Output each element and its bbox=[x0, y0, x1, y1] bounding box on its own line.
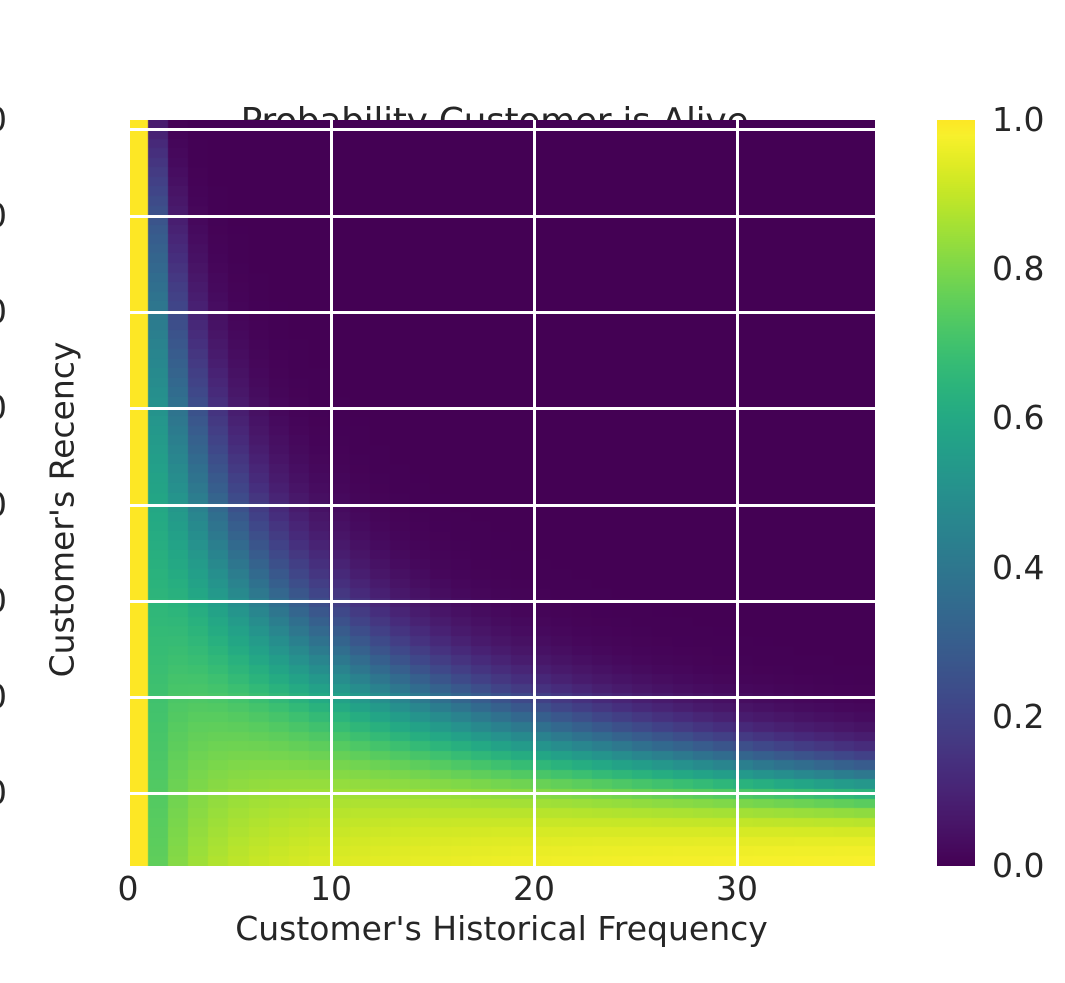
colorbar-tick-label: 1.0 bbox=[992, 103, 1065, 136]
colorbar-tick-label: 0.8 bbox=[992, 252, 1065, 285]
colorbar-tick-label: 0.2 bbox=[992, 700, 1065, 733]
figure-canvas: Probability Customer is Alive, by Freque… bbox=[0, 0, 1065, 983]
x-tick-label: 20 bbox=[474, 872, 594, 905]
y-tick-label: 0 bbox=[0, 103, 7, 136]
x-tick-label: 0 bbox=[68, 872, 188, 905]
colorbar-tick-label: 0.6 bbox=[992, 401, 1065, 434]
x-tick-label: 10 bbox=[271, 872, 391, 905]
colorbar-tick-label: 0.0 bbox=[992, 849, 1065, 882]
y-tick-label: 40 bbox=[0, 488, 7, 521]
colorbar-tick-label: 0.4 bbox=[992, 551, 1065, 584]
heatmap-image bbox=[128, 120, 875, 866]
y-tick-label: 30 bbox=[0, 391, 7, 424]
y-tick-label: 60 bbox=[0, 680, 7, 713]
y-tick-label: 50 bbox=[0, 584, 7, 617]
y-tick-label: 20 bbox=[0, 295, 7, 328]
heatmap-plot-area bbox=[128, 120, 875, 866]
y-axis-label: Customer's Recency bbox=[46, 240, 79, 780]
y-tick-label: 70 bbox=[0, 776, 7, 809]
colorbar-gradient bbox=[937, 120, 975, 866]
x-axis-label: Customer's Historical Frequency bbox=[128, 912, 875, 945]
y-tick-label: 10 bbox=[0, 199, 7, 232]
x-tick-label: 30 bbox=[677, 872, 797, 905]
colorbar bbox=[937, 120, 975, 866]
